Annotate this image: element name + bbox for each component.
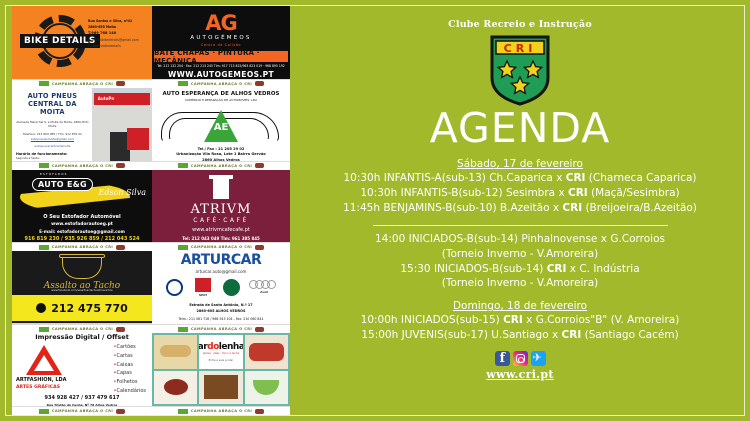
campaign-label: CAMPANHA ABRAÇA O CRI: [52, 327, 113, 331]
match-venue: (V. Amoreira): [611, 314, 680, 326]
campaign-label: CAMPANHA ABRAÇA O CRI: [52, 82, 113, 86]
artfashion-phones: 934 928 427 / 937 479 617: [12, 395, 152, 401]
match-time: 15:00h: [361, 329, 398, 341]
atrivm-name: ATRIVM: [152, 202, 290, 217]
match-category: INFANTIS-A(sub-13): [384, 172, 486, 184]
match-row: 15:00h JUVENIS(sub-17) U.Santiago x CRI …: [300, 328, 740, 343]
estofador-card: ESTOFADOS AUTO E&G Edson Silva O Seu Est…: [12, 170, 152, 243]
auto-esperanca-name: AUTO ESPERANÇA DE ALHOS VEDROS: [155, 91, 287, 97]
match-category: JUVENIS(sub-17): [402, 329, 488, 341]
match-time: 10:30h: [360, 187, 397, 199]
column-icon: [213, 175, 229, 199]
ad-body: ARTURCAR arturcar.auto@gmail.com SEAT Au…: [152, 251, 290, 324]
match-vs: x: [526, 314, 532, 326]
atrivm-subtitle: CAFÉ·CAFÉ: [152, 217, 290, 224]
day-heading: Sábado, 17 de fevereiro: [300, 158, 740, 170]
autogemeos-logo: AG: [205, 11, 237, 35]
ar-do-lenha-brand: ardolenha pizzas · pães · forno a lenha …: [199, 335, 242, 368]
ad-body: ardolenha pizzas · pães · forno a lenha …: [152, 333, 290, 406]
assalto-phone: 212 475 770: [51, 302, 128, 315]
club-name: Clube Recreio e Instrução: [300, 19, 740, 30]
strip-brown-icon: [116, 81, 125, 86]
social-handle: F / oficinabikedetails: [88, 43, 148, 49]
atrivm-website: www.atrivmcafecafe.pt: [152, 227, 290, 233]
strip-brown-icon: [255, 81, 264, 86]
match-home: CRI: [547, 263, 567, 275]
food-photo: [154, 371, 197, 404]
artfashion-logo-inner-icon: [34, 355, 54, 371]
strip-brown-icon: [255, 409, 264, 414]
cri-shield-icon: CRI: [488, 34, 552, 106]
ad-body: AG AUTOGÉMEOS Centro de Colisão BATE CHA…: [152, 6, 290, 79]
estofador-top-label: ESTOFADOS: [40, 172, 68, 176]
ar-do-lenha-card: ardolenha pizzas · pães · forno a lenha …: [152, 333, 290, 406]
match-venue-line: (Torneio Inverno - V.Amoreira): [300, 247, 740, 262]
sponsor-ad-auto-esperanca[interactable]: AUTO ESPERANÇA DE ALHOS VEDROS COMÉRCIO …: [152, 88, 290, 170]
campaign-strip: CAMPANHA ABRAÇA O CRI: [12, 161, 152, 170]
match-category: INFANTIS-B(sub-12): [401, 187, 503, 199]
campaign-label: CAMPANHA ABRAÇA O CRI: [52, 164, 113, 168]
ad-body: ESTOFADOS AUTO E&G Edson Silva O Seu Est…: [12, 170, 152, 243]
photo-red-panel: [127, 128, 149, 150]
campaign-label: CAMPANHA ABRAÇA O CRI: [191, 409, 252, 413]
food-photo-grid: ardolenha pizzas · pães · forno a lenha …: [154, 335, 288, 404]
auto-pneus-email: autopneuscmoita@gmail.com: [16, 137, 89, 141]
match-time: 11:45h: [343, 202, 380, 214]
campaign-strip: CAMPANHA ABRAÇA O CRI: [152, 161, 290, 170]
service-item: Caixas: [114, 361, 147, 370]
autogemeos-website: WWW.AUTOGEMEOS.PT: [152, 70, 290, 79]
website-link[interactable]: www.cri.pt: [300, 368, 740, 381]
auto-pneus-storefront-photo: AutoPn: [92, 88, 152, 161]
atrivm-card: ATRIVM CAFÉ·CAFÉ www.atrivmcafecafe.pt T…: [152, 170, 290, 243]
food-photo: [245, 371, 288, 404]
strip-brown-icon: [116, 409, 125, 414]
campaign-strip: CAMPANHA ABRAÇA O CRI: [152, 406, 290, 415]
section-divider: [373, 225, 668, 226]
match-venue: (Santiago Cacém): [585, 329, 679, 341]
sponsor-ad-arturcar[interactable]: ARTURCAR arturcar.auto@gmail.com SEAT Au…: [152, 251, 290, 333]
service-item: Cartões: [114, 343, 147, 352]
campaign-strip: CAMPANHA ABRAÇA O CRI: [12, 79, 152, 88]
arturcar-email: arturcar.auto@gmail.com: [152, 269, 290, 274]
auto-pneus-name-2: CENTRAL DA MOITA: [16, 100, 89, 116]
auto-pneus-text: AUTO PNEUS CENTRAL DA MOITA Alameda Mare…: [12, 88, 92, 161]
estofador-signature: Edson Silva: [99, 188, 146, 197]
match-vs: x: [553, 202, 559, 214]
auto-esperanca-subtitle: COMÉRCIO E REPARAÇÃO DE AUTOMÓVEIS, LDA: [155, 98, 287, 102]
sponsor-ad-auto-pneus-central-da-moita[interactable]: AUTO PNEUS CENTRAL DA MOITA Alameda Mare…: [12, 88, 152, 170]
autogemeos-phones: Tel: 212 132 204 · Fax: 212 213 245 Tlm:…: [152, 64, 290, 68]
match-row: 15:30 INICIADOS-B(sub-14) CRI x C. Indús…: [300, 262, 740, 277]
match-home: Pinhalnovense: [521, 233, 597, 245]
campaign-strip: CAMPANHA ABRAÇA O CRI: [152, 242, 290, 251]
campaign-label: CAMPANHA ABRAÇA O CRI: [52, 409, 113, 413]
assalto-phone-bar: 212 475 770: [12, 295, 152, 321]
match-category: INICIADOS-B(sub-14): [409, 233, 518, 245]
match-away: CRI: [562, 202, 582, 214]
autogemeos-subtitle: Centro de Colisão: [152, 43, 290, 47]
sponsor-ad-estofador-auto-eg[interactable]: ESTOFADOS AUTO E&G Edson Silva O Seu Est…: [12, 170, 152, 252]
match-vs: x: [552, 329, 558, 341]
vw-logo-icon: [166, 279, 183, 296]
ad-body: BIKE DETAILS Rua Santos e Silva, nº41 28…: [12, 6, 152, 79]
page-title: AGENDA: [300, 108, 740, 149]
club-crest: CRI: [300, 34, 740, 106]
autogemeos-card: AG AUTOGÉMEOS Centro de Colisão BATE CHA…: [152, 6, 290, 79]
strip-brown-icon: [116, 327, 125, 332]
campaign-strip: CAMPANHA ABRAÇA O CRI: [12, 242, 152, 251]
ad-body: AUTO PNEUS CENTRAL DA MOITA Alameda Mare…: [12, 88, 152, 161]
atrivm-phone: Tel: 212 043 049 Tlm: 961 385 845: [152, 236, 290, 241]
auto-pneus-name-1: AUTO PNEUS: [16, 92, 89, 100]
ad-body: Assalto ao Tacho www.facebook.com/assalt…: [12, 251, 152, 324]
arturcar-phones: Telm.: 211 061 716 / 966 343 104 - Fax: …: [152, 317, 290, 321]
match-home: CRI: [503, 314, 523, 326]
match-home: Ch.Caparica: [489, 172, 553, 184]
ad-body: ATRIVM CAFÉ·CAFÉ www.atrivmcafecafe.pt T…: [152, 170, 290, 243]
strip-brown-icon: [255, 163, 264, 168]
arturcar-address-1: Estrada de Santo António, N.º 17: [152, 303, 290, 307]
match-row: 14:00 INICIADOS-B(sub-14) Pinhalnovense …: [300, 232, 740, 247]
match-home: Sesimbra: [506, 187, 555, 199]
food-photo: [245, 335, 288, 368]
strip-green-icon: [178, 81, 188, 86]
campaign-strip: CAMPANHA ABRAÇA O CRI: [12, 406, 152, 415]
campaign-label: CAMPANHA ABRAÇA O CRI: [191, 164, 252, 168]
strip-green-icon: [178, 327, 188, 332]
arturcar-card: ARTURCAR arturcar.auto@gmail.com SEAT Au…: [152, 251, 290, 324]
strip-green-icon: [178, 409, 188, 414]
match-venue-line: (Torneio Inverno - V.Amoreira): [300, 276, 740, 291]
day-heading: Domingo, 18 de fevereiro: [300, 300, 740, 312]
match-time: 10:30h: [343, 172, 380, 184]
match-category: BENJAMINS-B(sub-10): [383, 202, 496, 214]
match-vs: x: [558, 187, 564, 199]
arturcar-name: ARTURCAR: [152, 252, 290, 268]
seat-label: SEAT: [195, 293, 211, 297]
arturcar-brand-logos: SEAT Audi: [152, 277, 290, 297]
facebook-icon[interactable]: f: [495, 351, 510, 366]
bike-details-contact: Rua Santos e Silva, nº41 2860-655 Moita …: [88, 18, 148, 49]
audi-label: Audi: [252, 290, 276, 294]
match-venue: (Charneca Caparica): [589, 172, 697, 184]
match-time: 15:30: [400, 263, 430, 275]
strip-brown-icon: [116, 163, 125, 168]
agenda-footer: f ✈ www.cri.pt: [300, 351, 740, 381]
match-venue: (Maçã/Sesimbra): [591, 187, 680, 199]
service-item: Folhetos: [114, 378, 147, 387]
estofador-logo: AUTO E&G: [32, 178, 93, 191]
brand-footer: Entre e saia a rolar: [209, 359, 234, 362]
auto-pneus-facebook: autopneuscentraldamoita: [16, 144, 89, 148]
food-photo: [199, 371, 242, 404]
sponsor-ad-ar-do-lenha[interactable]: ardolenha pizzas · pães · forno a lenha …: [152, 333, 290, 415]
match-vs: x: [570, 263, 576, 275]
strip-green-icon: [39, 245, 49, 250]
estofador-website: www.estofadorautoeg.pt: [12, 222, 152, 227]
strip-brown-icon: [255, 245, 264, 250]
estofador-email: E-mail: estofadorautoeg@gmail.com: [12, 229, 152, 234]
artfashion-card: Impressão Digital / Offset ARTFASHION, L…: [12, 333, 152, 406]
social-links: f ✈: [300, 351, 740, 366]
schedule-block-saturday: Sábado, 17 de fevereiro 10:30h INFANTIS-…: [300, 158, 740, 216]
twitter-icon[interactable]: ✈: [531, 351, 546, 366]
estofador-tagline: O Seu Estofador Automóvel: [12, 214, 152, 220]
auto-pneus-card: AUTO PNEUS CENTRAL DA MOITA Alameda Mare…: [12, 88, 152, 161]
autogemeos-services: BATE CHAPAS · PINTURA · MECÂNICA: [154, 51, 288, 62]
match-home: B.Azeitão: [500, 202, 550, 214]
match-row: 10:00h INICIADOS(sub-15) CRI x G.Corroio…: [300, 313, 740, 328]
autogemeos-name: AUTOGÉMEOS: [152, 35, 290, 41]
match-away: CRI: [562, 329, 582, 341]
car-illustration: AE: [155, 104, 287, 146]
strip-green-icon: [39, 163, 49, 168]
phone-icon: [36, 303, 46, 313]
sponsor-ad-autogemeos[interactable]: AG AUTOGÉMEOS Centro de Colisão BATE CHA…: [152, 6, 290, 88]
match-row: 10:30h INFANTIS-A(sub-13) Ch.Caparica x …: [300, 171, 740, 186]
photo-sign: AutoPn: [94, 93, 150, 105]
campaign-strip: CAMPANHA ABRAÇA O CRI: [12, 324, 152, 333]
strip-brown-icon: [255, 327, 264, 332]
arturcar-address-2: 2860-605 ALHOS VEDROS: [152, 309, 290, 313]
strip-green-icon: [178, 245, 188, 250]
match-venue: (Breijoeira/B.Azeitão): [585, 202, 696, 214]
strip-green-icon: [178, 163, 188, 168]
sponsor-ad-artfashion[interactable]: Impressão Digital / Offset ARTFASHION, L…: [12, 333, 152, 415]
strip-green-icon: [39, 81, 49, 86]
schedule-block-tournament: 14:00 INICIADOS-B(sub-14) Pinhalnovense …: [300, 232, 740, 292]
instagram-icon[interactable]: [513, 351, 528, 366]
skoda-logo-icon: [223, 279, 240, 296]
match-row: 10:30h INFANTIS-B(sub-12) Sesimbra x CRI…: [300, 186, 740, 201]
campaign-strip: CAMPANHA ABRAÇA O CRI: [152, 324, 290, 333]
ad-body: AUTO ESPERANÇA DE ALHOS VEDROS COMÉRCIO …: [152, 88, 290, 161]
campaign-label: CAMPANHA ABRAÇA O CRI: [191, 245, 252, 249]
campaign-label: CAMPANHA ABRAÇA O CRI: [191, 82, 252, 86]
audi-logo-icon: Audi: [252, 280, 276, 294]
sponsor-collage: BIKE DETAILS Rua Santos e Silva, nº41 28…: [12, 6, 290, 415]
strip-brown-icon: [116, 245, 125, 250]
food-photo: [154, 335, 197, 368]
bike-details-card: BIKE DETAILS Rua Santos e Silva, nº41 28…: [12, 6, 152, 79]
sponsor-ad-bike-details[interactable]: BIKE DETAILS Rua Santos e Silva, nº41 28…: [12, 6, 152, 88]
brand-name: ardolenha: [199, 342, 242, 352]
photo-sign-text: AutoPn: [98, 96, 114, 101]
seat-logo-icon: SEAT: [195, 277, 211, 297]
poster-root: BIKE DETAILS Rua Santos e Silva, nº41 28…: [0, 0, 750, 421]
service-item: Cartas: [114, 352, 147, 361]
campaign-label: CAMPANHA ABRAÇA O CRI: [191, 327, 252, 331]
estofador-phones: 916 819 230 / 935 926 859 / 212 043 524: [12, 236, 152, 242]
phone: T.969 768 140: [88, 30, 148, 37]
match-row: 11:45h BENJAMINS-B(sub-10) B.Azeitão x C…: [300, 201, 740, 216]
ad-body: Impressão Digital / Offset ARTFASHION, L…: [12, 333, 152, 406]
match-away: G.Corroios: [610, 233, 665, 245]
match-away: G.Corroios"B": [536, 314, 608, 326]
strip-green-icon: [39, 327, 49, 332]
strip-green-icon: [39, 409, 49, 414]
brand-subtitle: pizzas · pães · forno a lenha: [203, 352, 239, 355]
match-vs: x: [601, 233, 607, 245]
assalto-card: Assalto ao Tacho www.facebook.com/assalt…: [12, 251, 152, 324]
match-category: INICIADOS-B(sub-14): [434, 263, 543, 275]
svg-text:CRI: CRI: [504, 42, 537, 55]
sponsor-ad-atrivm-cafe[interactable]: ATRIVM CAFÉ·CAFÉ www.atrivmcafecafe.pt T…: [152, 170, 290, 252]
match-time: 14:00: [375, 233, 405, 245]
agenda-panel: Clube Recreio e Instrução CRI AGENDA Sáb…: [300, 6, 740, 415]
artfashion-subtitle: ARTES GRÁFICAS: [16, 385, 60, 390]
artfashion-services: Cartões Cartas Caixas Capas Folhetos Cal…: [114, 343, 147, 396]
campaign-label: CAMPANHA ABRAÇA O CRI: [52, 245, 113, 249]
service-item: Capas: [114, 369, 147, 378]
match-away: CRI: [568, 187, 588, 199]
match-away: C. Indústria: [579, 263, 639, 275]
match-category: INICIADOS(sub-15): [401, 314, 500, 326]
auto-pneus-address: Alameda Marechal S. e Moita da Moita, 28…: [16, 120, 89, 130]
auto-esperanca-logo-letters: AE: [214, 122, 229, 133]
pot-icon: [62, 257, 102, 279]
assalto-facebook: www.facebook.com/assaltoaotachoalhosvedr…: [12, 289, 152, 292]
artfashion-name: ARTFASHION, LDA: [16, 377, 67, 383]
campaign-strip: CAMPANHA ABRAÇA O CRI: [152, 79, 290, 88]
sponsor-ad-assalto-ao-tacho[interactable]: Assalto ao Tacho www.facebook.com/assalt…: [12, 251, 152, 333]
match-time: 10:00h: [361, 314, 398, 326]
artfashion-header: Impressão Digital / Offset: [12, 333, 152, 341]
match-vs: x: [556, 172, 562, 184]
auto-esperanca-card: AUTO ESPERANÇA DE ALHOS VEDROS COMÉRCIO …: [152, 88, 290, 161]
match-away: CRI: [566, 172, 586, 184]
match-home: U.Santiago: [491, 329, 548, 341]
schedule-block-sunday: Domingo, 18 de fevereiro 10:00h INICIADO…: [300, 300, 740, 343]
